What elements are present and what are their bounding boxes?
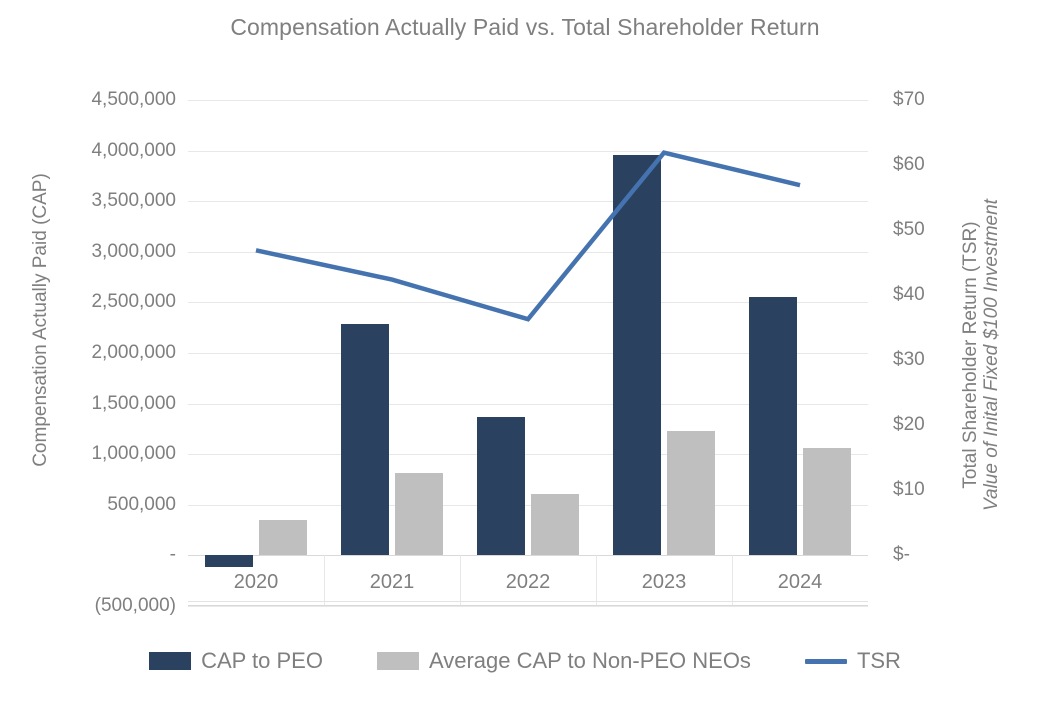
left-axis-tick: 1,000,000 <box>56 443 176 465</box>
chart-container: Compensation Actually Paid vs. Total Sha… <box>0 0 1050 706</box>
legend-item-average-cap-to-non-peo-neos[interactable]: Average CAP to Non-PEO NEOs <box>377 648 751 674</box>
left-axis-tick-labels: 4,500,0004,000,0003,500,0003,000,0002,50… <box>48 100 176 606</box>
x-axis-tick: 2022 <box>460 562 596 602</box>
left-axis-tick: 2,000,000 <box>56 342 176 364</box>
right-axis-tick: $- <box>893 544 973 566</box>
legend-color-swatch <box>377 652 419 670</box>
right-axis-tick: $50 <box>893 219 973 241</box>
right-axis-tick: $40 <box>893 284 973 306</box>
legend-color-swatch <box>149 652 191 670</box>
right-axis-tick: $30 <box>893 349 973 371</box>
legend-label: TSR <box>857 648 901 674</box>
left-axis-tick: 500,000 <box>56 494 176 516</box>
chart-legend: CAP to PEOAverage CAP to Non-PEO NEOsTSR <box>0 648 1050 674</box>
tsr-line[interactable] <box>256 153 800 320</box>
legend-item-cap-to-peo[interactable]: CAP to PEO <box>149 648 323 674</box>
right-axis-tick-labels: $70$60$50$40$30$20$10$- <box>893 100 977 606</box>
right-axis-title-subtitle: Value of Inital Fixed $100 Investment <box>981 95 1002 615</box>
legend-label: CAP to PEO <box>201 648 323 674</box>
legend-item-tsr[interactable]: TSR <box>805 648 901 674</box>
right-axis-tick: $70 <box>893 89 973 111</box>
left-axis-tick: 2,500,000 <box>56 291 176 313</box>
x-axis-tick-labels: 20202021202220232024 <box>188 562 868 602</box>
gridline <box>188 606 868 607</box>
right-axis-tick: $20 <box>893 414 973 436</box>
left-axis-tick: (500,000) <box>56 595 176 617</box>
left-axis-tick: 4,500,000 <box>56 89 176 111</box>
right-axis-tick: $10 <box>893 479 973 501</box>
left-axis-tick: 4,000,000 <box>56 140 176 162</box>
x-axis-tick: 2020 <box>188 562 324 602</box>
left-axis-tick: 3,500,000 <box>56 190 176 212</box>
right-axis-tick: $60 <box>893 154 973 176</box>
legend-line-swatch <box>805 659 847 664</box>
tsr-line-layer <box>188 100 868 606</box>
x-axis-tick: 2024 <box>732 562 868 602</box>
left-axis-tick: 1,500,000 <box>56 393 176 415</box>
x-axis-tick: 2023 <box>596 562 732 602</box>
plot-area <box>188 100 868 606</box>
left-axis-tick: 3,000,000 <box>56 241 176 263</box>
x-axis-rule <box>188 605 868 606</box>
legend-label: Average CAP to Non-PEO NEOs <box>429 648 751 674</box>
chart-title: Compensation Actually Paid vs. Total Sha… <box>0 14 1050 41</box>
x-axis-tick: 2021 <box>324 562 460 602</box>
left-axis-tick: - <box>56 544 176 566</box>
